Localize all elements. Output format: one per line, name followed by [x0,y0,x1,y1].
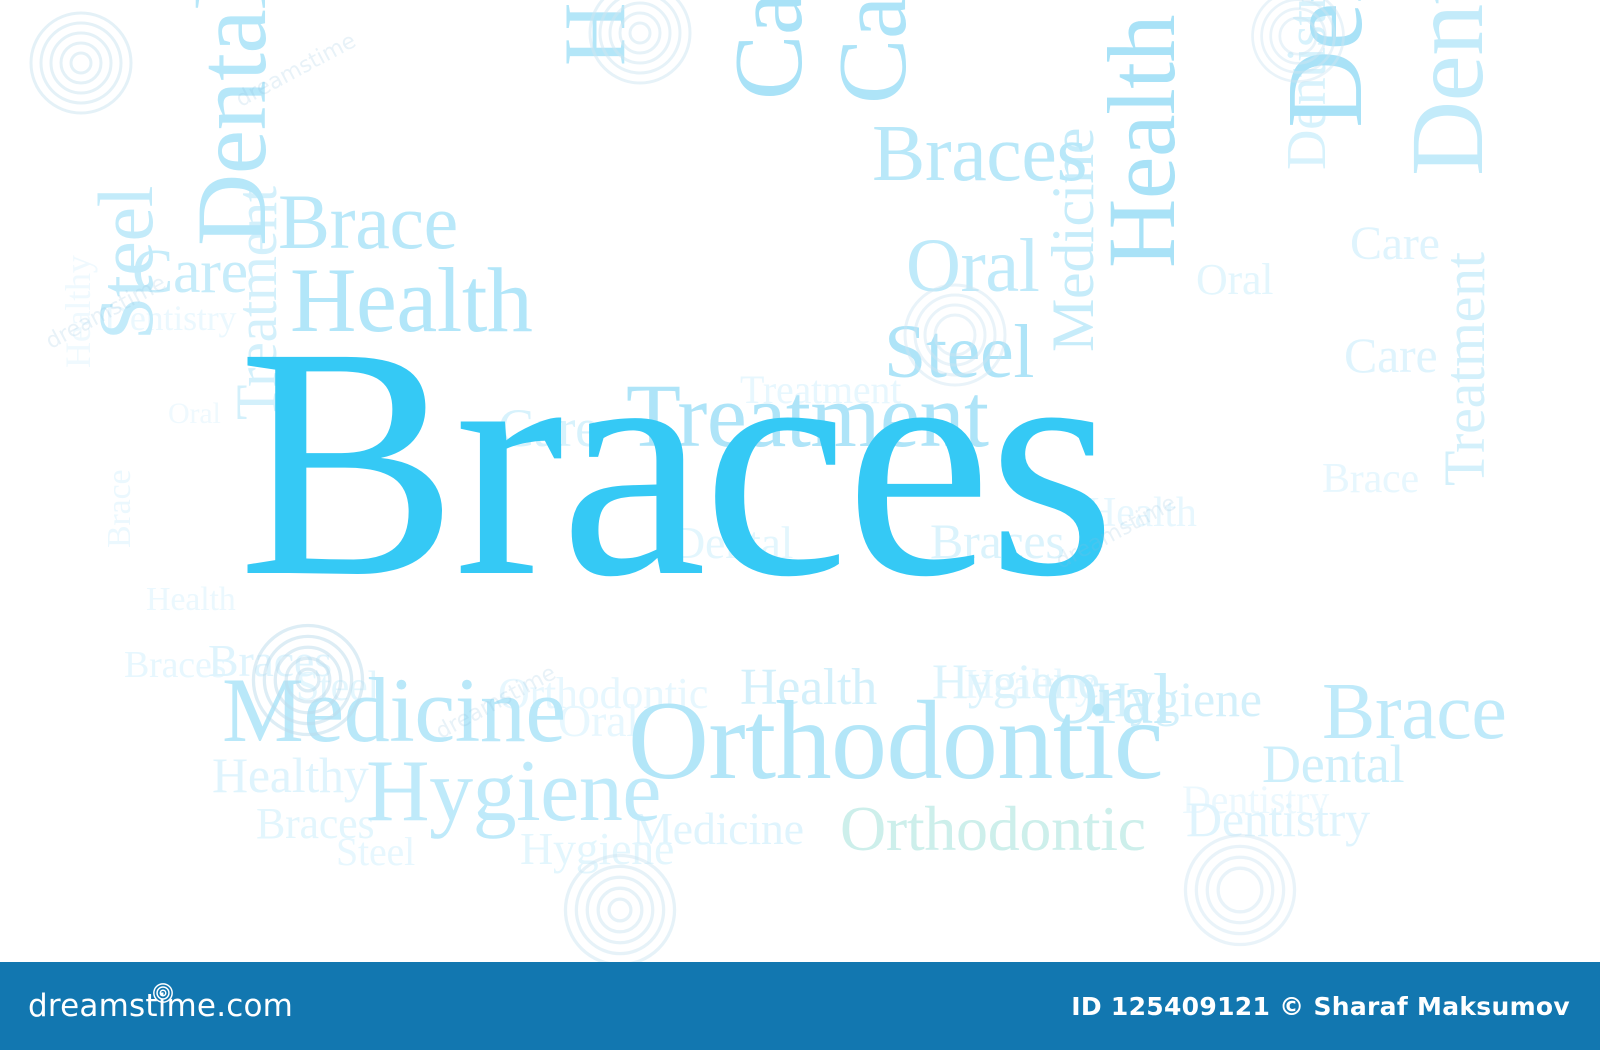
credit-text: ID 125409121 © Sharaf Maksumov [1071,992,1570,1021]
cloud-word: Care [828,0,918,104]
spiral-logo-icon [152,982,174,1004]
word-cloud-canvas: OrthodonticDentistryDentalDentalTreatmen… [0,0,1600,1050]
cloud-word: Braces [872,118,1087,192]
cloud-word: Care [1344,332,1437,378]
cloud-word: Oral [1196,260,1273,300]
headline-word: Braces [238,318,1112,608]
cloud-word: Oral [168,400,221,428]
cloud-word: Steel [90,186,162,340]
cloud-word: Medicine [222,668,566,753]
cloud-word: Brace [1322,676,1507,750]
cloud-word: Healthy [556,0,637,66]
cloud-word: Orthodontic [840,800,1146,859]
footer-bar: dreamstime.com ID 125409121 © Sharaf Mak… [0,962,1600,1050]
cloud-word: Brace [278,186,458,258]
cloud-word: Hygiene [366,752,661,833]
cloud-word: Dental [1276,0,1375,128]
dreamstime-brand: dreamstime.com [28,988,293,1024]
cloud-word: Dentistry [1400,0,1496,176]
cloud-word: Dentistry [1186,796,1370,842]
cloud-word: Dental [186,0,278,246]
cloud-word: Health [146,584,236,615]
cloud-word: Orthodontic [628,690,1163,793]
cloud-word: Brace [1322,460,1419,499]
cloud-word: Care [1350,222,1440,266]
cloud-word: Brace [104,470,135,548]
cloud-word: Braces [256,804,374,844]
cloud-word: Health [1098,15,1186,268]
cloud-word: Care [724,0,814,100]
cloud-word: Treatment [1438,252,1491,486]
